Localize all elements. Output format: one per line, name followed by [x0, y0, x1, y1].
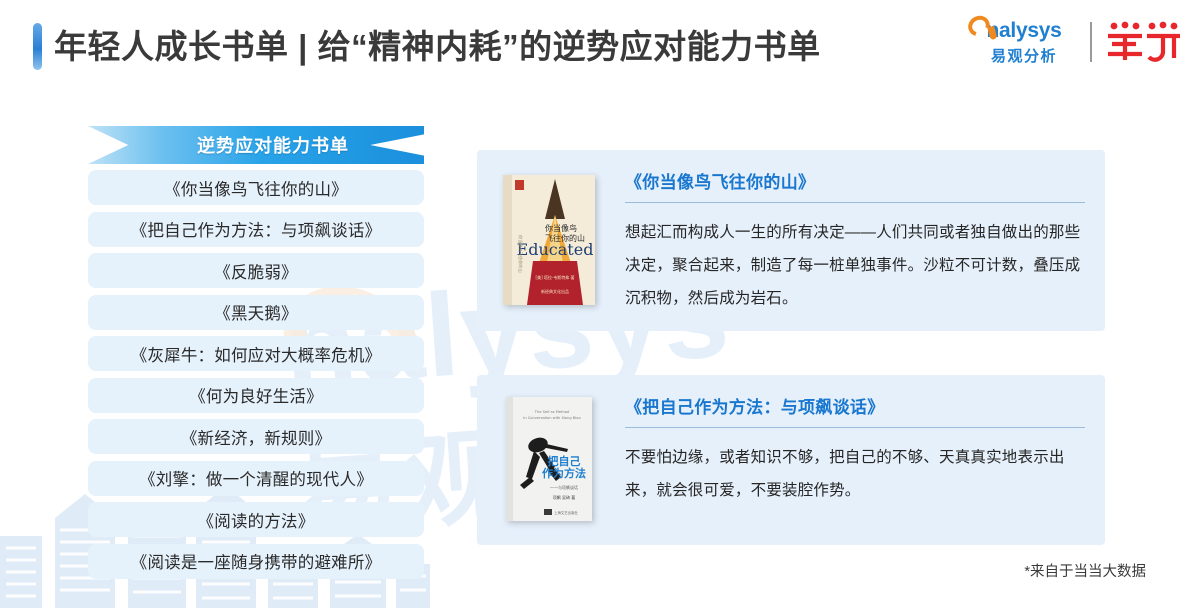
- book-cover-wrap: 你当像鸟 飞往你的山 Educated [美] 塔拉·韦斯特弗 著 新经典文化出…: [493, 164, 605, 315]
- card-title: 《你当像鸟飞往你的山》: [625, 168, 1085, 193]
- book-cover-educated: 你当像鸟 飞往你的山 Educated [美] 塔拉·韦斯特弗 著 新经典文化出…: [503, 175, 595, 305]
- svg-text:——与项飙谈话: ——与项飙谈话: [550, 484, 578, 490]
- title-accent-bar: [33, 23, 42, 70]
- book-card: 你当像鸟 飞往你的山 Educated [美] 塔拉·韦斯特弗 著 新经典文化出…: [477, 150, 1105, 331]
- svg-text:把自己: 把自己: [548, 454, 581, 468]
- list-item[interactable]: 《刘擎：做一个清醒的现代人》: [88, 461, 424, 496]
- logo-zone: nalysys 易观分析: [970, 18, 1182, 66]
- list-item[interactable]: 《阅读的方法》: [88, 502, 424, 537]
- svg-text:你当像鸟飞往你的山: 你当像鸟飞往你的山: [517, 235, 524, 273]
- list-item[interactable]: 《你当像鸟飞往你的山》: [88, 170, 424, 205]
- list-item[interactable]: 《灰犀牛：如何应对大概率危机》: [88, 336, 424, 371]
- book-card: The Self as Method In Conversation with …: [477, 375, 1105, 545]
- svg-text:上海文艺出版社: 上海文艺出版社: [554, 510, 578, 515]
- svg-text:The Self as Method: The Self as Method: [534, 410, 569, 414]
- page-title: 年轻人成长书单 | 给“精神内耗”的逆势应对能力书单: [54, 20, 821, 68]
- list-item[interactable]: 《新经济，新规则》: [88, 419, 424, 454]
- svg-text:作为方法: 作为方法: [542, 466, 586, 480]
- card-quote: 想起汇而构成人一生的所有决定——人们共同或者独自做出的那些决定，聚合起来，制造了…: [625, 216, 1085, 315]
- book-cover-wrap: The Self as Method In Conversation with …: [493, 389, 605, 529]
- booklist-banner: 逆势应对能力书单: [88, 126, 424, 164]
- analysys-logo-cn: 易观分析: [970, 45, 1078, 66]
- card-body: 《你当像鸟飞往你的山》 想起汇而构成人一生的所有决定——人们共同或者独自做出的那…: [605, 164, 1085, 315]
- list-item[interactable]: 《黑天鹅》: [88, 295, 424, 330]
- list-item[interactable]: 《反脆弱》: [88, 253, 424, 288]
- svg-text:Educated: Educated: [517, 240, 594, 259]
- logo-divider: [1090, 22, 1092, 62]
- booklist-panel: 逆势应对能力书单 《你当像鸟飞往你的山》 《把自己作为方法：与项飙谈话》 《反脆…: [88, 126, 424, 585]
- card-title: 《把自己作为方法：与项飙谈话》: [625, 393, 1085, 418]
- book-cover-fangfa: The Self as Method In Conversation with …: [506, 397, 592, 521]
- booklist-banner-label: 逆势应对能力书单: [163, 132, 349, 158]
- source-note: *来自于当当大数据: [1024, 560, 1146, 581]
- dangdang-logo-icon: [1104, 20, 1182, 64]
- book-detail-cards: 你当像鸟 飞往你的山 Educated [美] 塔拉·韦斯特弗 著 新经典文化出…: [477, 150, 1105, 545]
- analysys-swirl-icon: [965, 12, 994, 40]
- analysys-logo-text: nalysys: [987, 19, 1062, 43]
- svg-text:你当像鸟: 你当像鸟: [545, 223, 577, 233]
- card-divider: [625, 427, 1085, 428]
- svg-text:新经典文化出品: 新经典文化出品: [541, 288, 569, 294]
- svg-text:[美] 塔拉·韦斯特弗 著: [美] 塔拉·韦斯特弗 著: [536, 274, 575, 280]
- card-divider: [625, 202, 1085, 203]
- page-header: 年轻人成长书单 | 给“精神内耗”的逆势应对能力书单 nalysys 易观分析: [0, 0, 1200, 90]
- card-body: 《把自己作为方法：与项飙谈话》 不要怕边缘，或者知识不够，把自己的不够、天真真实…: [605, 389, 1085, 529]
- card-quote: 不要怕边缘，或者知识不够，把自己的不够、天真真实地表示出来，就会很可爱，不要装腔…: [625, 441, 1085, 507]
- analysys-logo: nalysys 易观分析: [970, 18, 1078, 66]
- list-item[interactable]: 《何为良好生活》: [88, 378, 424, 413]
- svg-text:In Conversation with Xiang Bia: In Conversation with Xiang Biao: [523, 416, 580, 420]
- svg-text:项飙 吴琦 著: 项飙 吴琦 著: [553, 494, 576, 500]
- list-item[interactable]: 《阅读是一座随身携带的避难所》: [88, 544, 424, 579]
- list-item[interactable]: 《把自己作为方法：与项飙谈话》: [88, 212, 424, 247]
